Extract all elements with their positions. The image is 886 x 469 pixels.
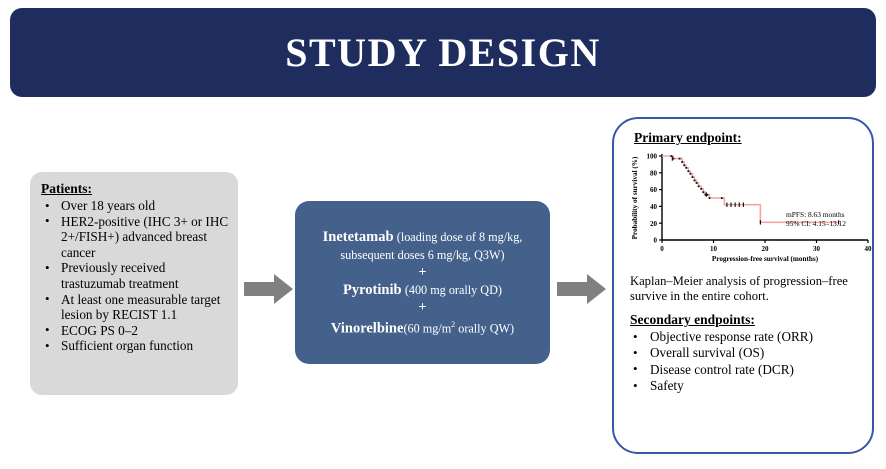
patients-criteria-box: Patients: •Over 18 years old •HER2-posit…: [30, 172, 238, 395]
list-item: •HER2-positive (IHC 3+ or IHC 2+/FISH+) …: [41, 214, 230, 261]
list-item: •Over 18 years old: [41, 198, 230, 214]
drug-dose: (400 mg orally QD): [405, 283, 502, 297]
patients-criteria-list: •Over 18 years old •HER2-positive (IHC 3…: [41, 198, 230, 354]
drug-dose-pre: (60 mg/m: [403, 321, 451, 335]
bullet-icon: •: [633, 378, 638, 394]
figure-title-bar: STUDY DESIGN: [10, 8, 876, 97]
svg-text:40: 40: [865, 245, 873, 253]
bullet-icon: •: [45, 338, 50, 354]
bullet-icon: •: [633, 345, 638, 361]
plus-separator-2: +: [419, 299, 427, 316]
arrow-right-icon-2: [557, 272, 607, 306]
list-item-label: HER2-positive (IHC 3+ or IHC 2+/FISH+) a…: [61, 214, 228, 260]
list-item-label: Safety: [650, 378, 684, 393]
svg-text:Progression-free survival (mon: Progression-free survival (months): [712, 255, 819, 263]
svg-text:0: 0: [654, 237, 658, 245]
svg-text:60: 60: [650, 186, 658, 194]
bullet-icon: •: [45, 198, 50, 214]
svg-text:0: 0: [660, 245, 664, 253]
kaplan-meier-plot-area: 020406080100010203040Progression-free su…: [628, 148, 874, 268]
svg-text:30: 30: [813, 245, 821, 253]
list-item: •ECOG PS 0–2: [41, 323, 230, 339]
patients-heading: Patients:: [41, 181, 230, 197]
page-title: STUDY DESIGN: [285, 33, 600, 73]
list-item: •Objective response rate (ORR): [628, 329, 862, 345]
list-item: •Safety: [628, 378, 862, 394]
bullet-icon: •: [45, 260, 50, 276]
svg-text:100: 100: [647, 153, 658, 161]
list-item-label: Over 18 years old: [61, 198, 155, 213]
bullet-icon: •: [633, 361, 638, 377]
drug-dose-post: orally QW): [455, 321, 514, 335]
drug-name: Inetetamab: [323, 229, 394, 245]
plus-separator-1: +: [419, 264, 427, 281]
drug-name: Pyrotinib: [343, 282, 402, 298]
chart-caption: Kaplan–Meier analysis of progression–fre…: [630, 274, 862, 304]
list-item-label: Overall survival (OS): [650, 345, 764, 360]
svg-text:Probability of survival (%): Probability of survival (%): [631, 156, 639, 239]
annotation-ci: 95% CI: 4.15–13.12: [786, 219, 872, 228]
secondary-endpoints-list: •Objective response rate (ORR) •Overall …: [628, 329, 862, 395]
list-item: •Previously received trastuzumab treatme…: [41, 260, 230, 291]
svg-text:10: 10: [710, 245, 718, 253]
annotation-mpfs: mPFS: 8.63 months: [786, 210, 872, 219]
treatment-regimen-box: Inetetamab (loading dose of 8 mg/kg, sub…: [295, 201, 550, 364]
chart-annotation: mPFS: 8.63 months 95% CI: 4.15–13.12: [786, 210, 872, 229]
list-item: •Disease control rate (DCR): [628, 362, 862, 378]
bullet-icon: •: [45, 213, 50, 229]
list-item: •At least one measurable target lesion b…: [41, 292, 230, 323]
arrow-right-icon-1: [244, 272, 294, 306]
drug-inetetamab: Inetetamab (loading dose of 8 mg/kg, sub…: [305, 228, 540, 264]
svg-text:80: 80: [650, 169, 658, 177]
list-item: •Overall survival (OS): [628, 345, 862, 361]
drug-pyrotinib: Pyrotinib (400 mg orally QD): [305, 281, 540, 299]
list-item-label: Sufficient organ function: [61, 338, 193, 353]
bullet-icon: •: [45, 291, 50, 307]
list-item-label: Objective response rate (ORR): [650, 329, 813, 344]
drug-name: Vinorelbine: [331, 320, 404, 336]
svg-text:20: 20: [762, 245, 770, 253]
bullet-icon: •: [633, 329, 638, 345]
list-item-label: At least one measurable target lesion by…: [61, 292, 220, 323]
bullet-icon: •: [45, 322, 50, 338]
primary-endpoint-heading: Primary endpoint:: [634, 130, 862, 146]
svg-text:40: 40: [650, 203, 658, 211]
list-item-label: ECOG PS 0–2: [61, 323, 138, 338]
endpoints-panel: Primary endpoint: 020406080100010203040P…: [612, 117, 874, 454]
list-item: •Sufficient organ function: [41, 338, 230, 354]
svg-text:20: 20: [650, 220, 658, 228]
study-design-figure: STUDY DESIGN Patients: •Over 18 years ol…: [0, 0, 886, 469]
list-item-label: Disease control rate (DCR): [650, 362, 794, 377]
drug-vinorelbine: Vinorelbine(60 mg/m2 orally QW): [305, 316, 540, 337]
kaplan-meier-chart: 020406080100010203040Progression-free su…: [628, 148, 874, 268]
list-item-label: Previously received trastuzumab treatmen…: [61, 260, 179, 291]
secondary-endpoints-heading: Secondary endpoints:: [630, 312, 862, 328]
